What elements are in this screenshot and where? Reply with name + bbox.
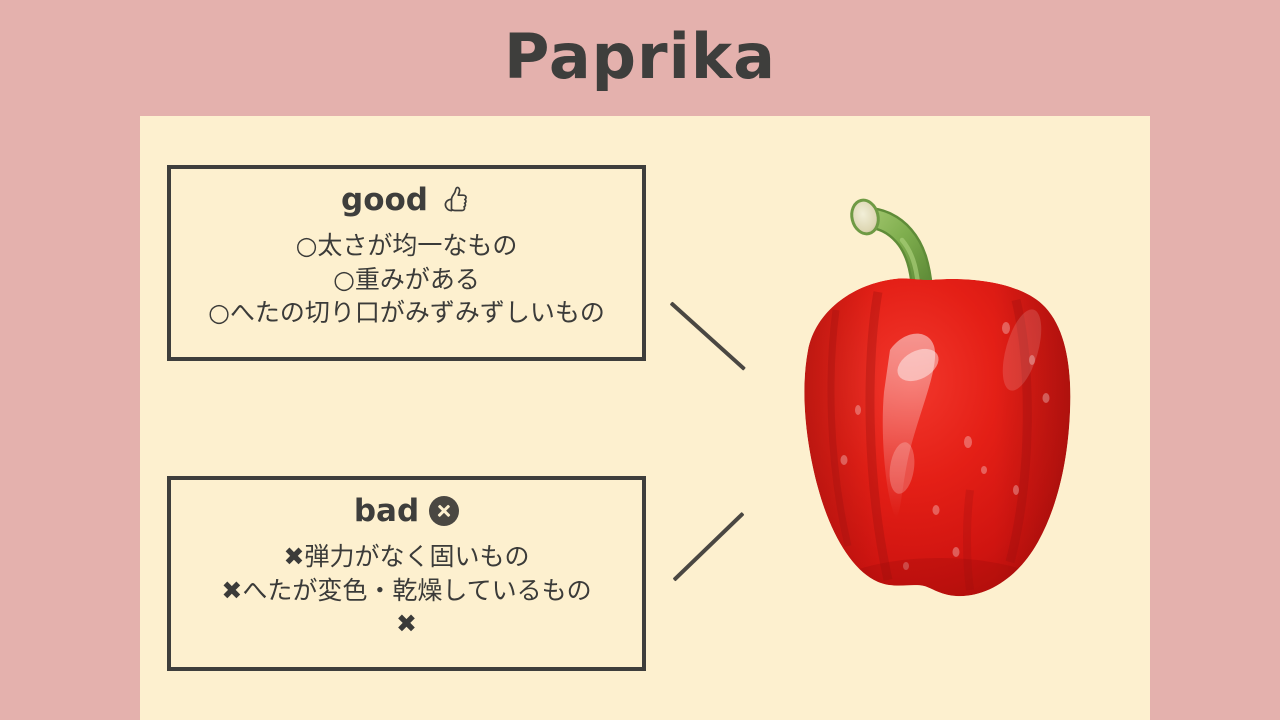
thumbs-up-icon	[438, 183, 472, 217]
bad-box-lines: ✖弾力がなく固いもの ✖へたが変色・乾燥しているもの ✖	[171, 540, 642, 641]
bad-box-heading: bad	[171, 494, 642, 528]
bad-line-2: ✖へたが変色・乾燥しているもの	[171, 574, 642, 608]
x-circle-icon	[429, 496, 459, 526]
good-box-lines: ○太さが均一なもの ○重みがある ○へたの切り口がみずみずしいもの	[171, 229, 642, 330]
good-line-1: ○太さが均一なもの	[171, 229, 642, 263]
good-box-heading: good	[171, 183, 642, 217]
bad-box: bad ✖弾力がなく固いもの ✖へたが変色・乾燥しているもの ✖	[167, 476, 646, 671]
good-box-heading-label: good	[341, 183, 428, 217]
good-line-2: ○重みがある	[171, 263, 642, 297]
good-line-3: ○へたの切り口がみずみずしいもの	[171, 296, 642, 330]
infographic-stage: Paprika good ○太さが均一なもの ○重みがある ○へたの切り口がみず…	[0, 0, 1280, 720]
bad-line-3: ✖	[171, 607, 642, 641]
paprika-photo	[770, 160, 1090, 640]
bad-box-heading-label: bad	[354, 494, 419, 528]
good-box: good ○太さが均一なもの ○重みがある ○へたの切り口がみずみずしいもの	[167, 165, 646, 361]
bad-line-1: ✖弾力がなく固いもの	[171, 540, 642, 574]
page-title: Paprika	[0, 26, 1280, 88]
